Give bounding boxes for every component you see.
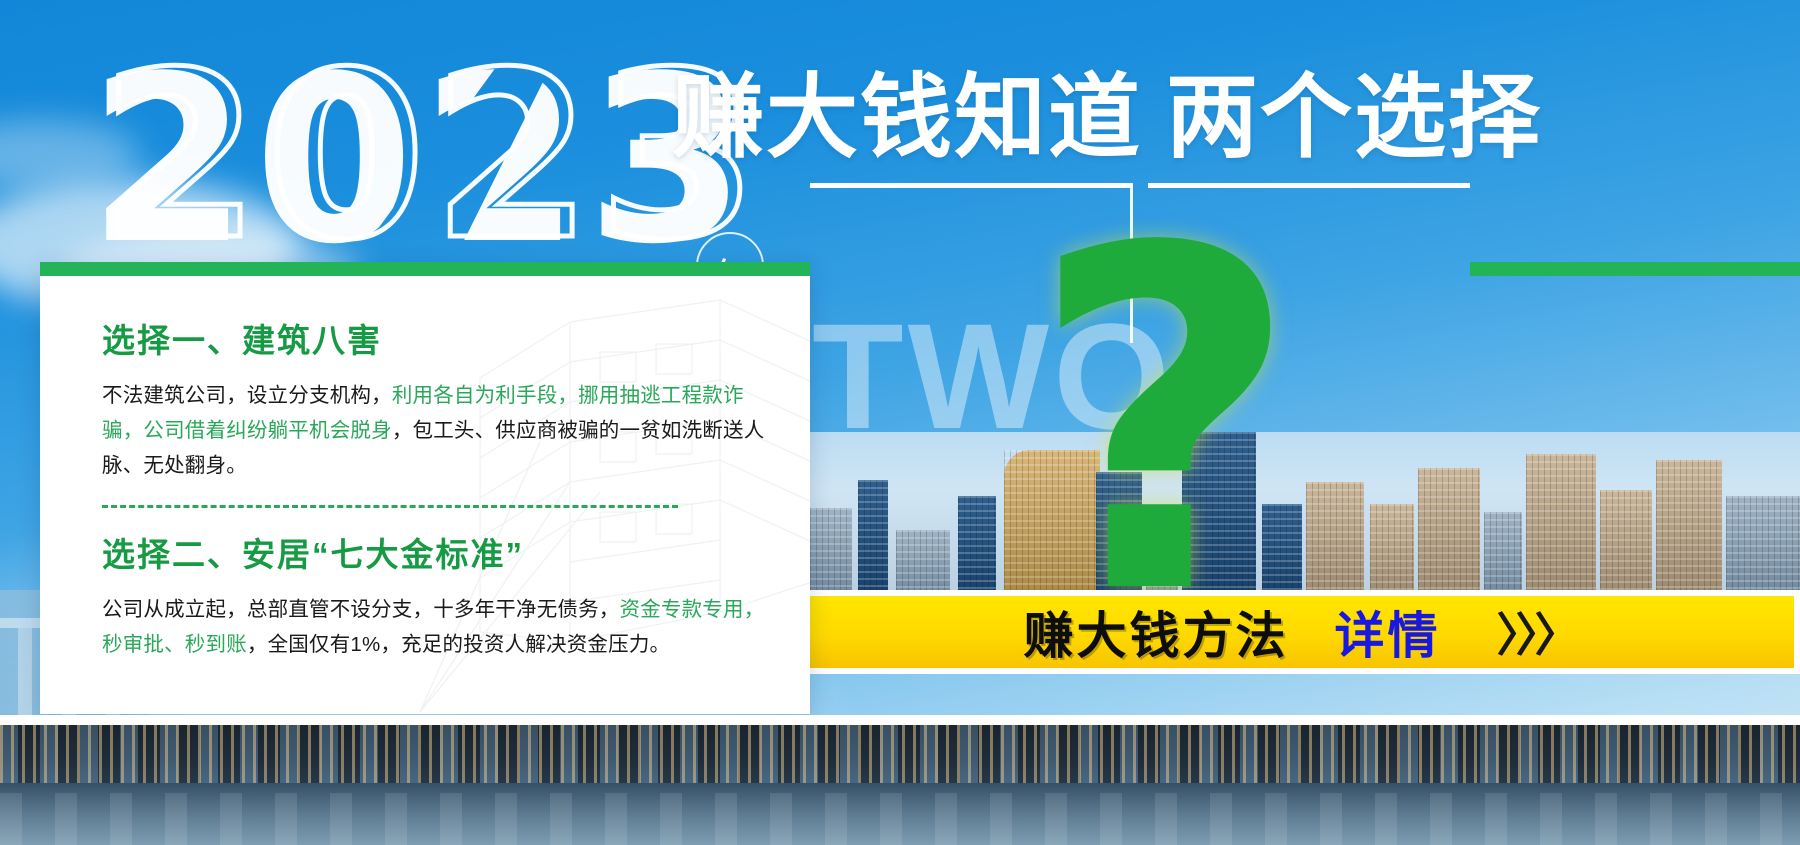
chevron-right-icon: 〉〉〉 — [1497, 599, 1577, 665]
section-title-2: 选择二、安居“七大金标准” — [102, 528, 772, 576]
water-reflection — [0, 793, 1800, 845]
section-divider — [102, 505, 678, 508]
text-run: ，全国仅有1%，充足的投资人解决资金压力。 — [247, 633, 670, 656]
right-accent-bar — [1470, 262, 1800, 276]
info-card: 选择一、建筑八害 不法建筑公司，设立分支机构，利用各自为利手段，挪用抽逃工程款诈… — [40, 262, 810, 714]
year-graphic: 2023 2023 2023 年 — [100, 58, 740, 268]
text-run: 公司从成立起，总部直管不设分支，十多年干净无债务， — [102, 598, 620, 621]
promo-banner: 2023 2023 2023 年 赚大钱知道两个选择 TWO CHOOSE — [0, 0, 1800, 845]
text-run: 不法建筑公司，设立分支机构， — [102, 384, 392, 407]
card-body: 选择一、建筑八害 不法建筑公司，设立分支机构，利用各自为利手段，挪用抽逃工程款诈… — [40, 262, 810, 662]
cta-inner[interactable]: 赚大钱方法 详情 〉〉〉 — [806, 596, 1794, 668]
cta-banner[interactable]: 赚大钱方法 详情 〉〉〉 — [800, 590, 1800, 674]
section-text-2: 公司从成立起，总部直管不设分支，十多年干净无债务，资金专款专用，秒审批、秒到账，… — [102, 592, 772, 662]
question-mark-icon: ? — [1028, 214, 1288, 634]
cta-more-link[interactable]: 详情 — [1335, 596, 1441, 668]
cta-label: 赚大钱方法 — [1024, 596, 1289, 668]
section-text-1: 不法建筑公司，设立分支机构，利用各自为利手段，挪用抽逃工程款诈骗，公司借着纠纷躺… — [102, 378, 772, 483]
section-title-1: 选择一、建筑八害 — [102, 314, 772, 362]
